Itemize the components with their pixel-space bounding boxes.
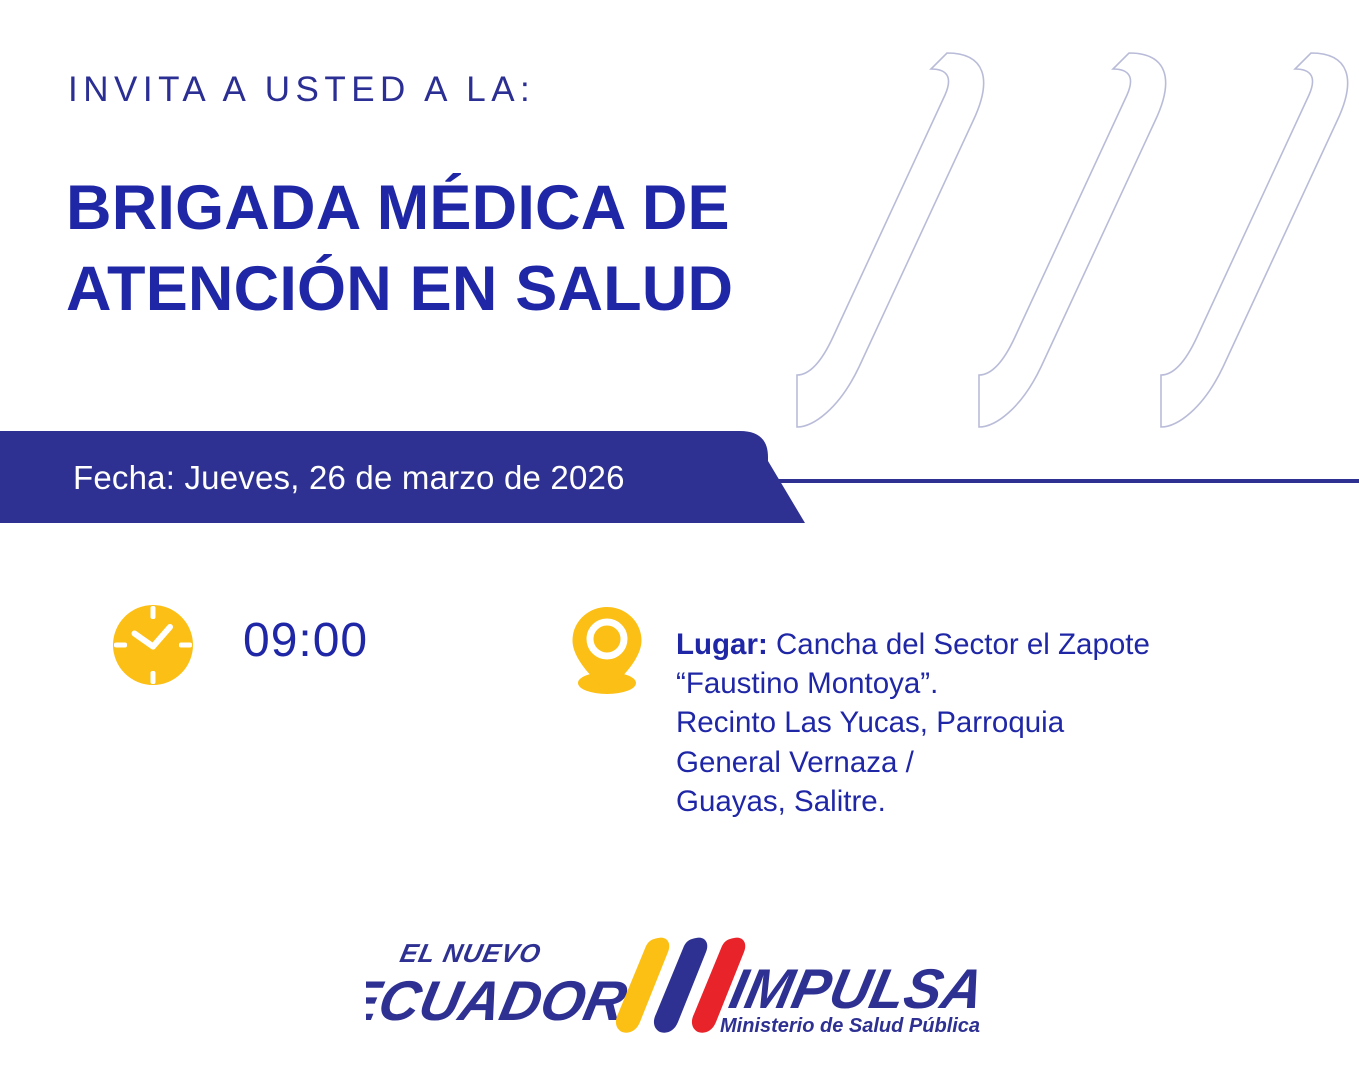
poster-canvas: INVITA A USTED A LA: BRIGADA MÉDICA DE A… bbox=[0, 0, 1359, 1079]
event-time: 09:00 bbox=[243, 613, 368, 668]
logo-tagline: EL NUEVO bbox=[398, 938, 545, 968]
location-venue: Cancha del Sector el Zapote bbox=[768, 628, 1150, 661]
logo-word-impulsa: IMPULSA bbox=[724, 958, 986, 1020]
triple-slash-outline-watermark bbox=[795, 45, 1355, 440]
location-label: Lugar: bbox=[676, 628, 768, 661]
logo-ministry-label: Ministerio de Salud Pública bbox=[720, 1015, 980, 1037]
location-line-2: “Faustino Montoya”. bbox=[676, 664, 1150, 703]
location-line-5: Guayas, Salitre. bbox=[676, 782, 1150, 821]
location-line-4: General Vernaza / bbox=[676, 743, 1150, 782]
footer-logo: EL NUEVO ECUADOR IMPULSA Ministerio de S… bbox=[366, 928, 986, 1040]
location-line-3: Recinto Las Yucas, Parroquia bbox=[676, 703, 1150, 742]
page-title-line-2: ATENCIÓN EN SALUD bbox=[66, 249, 733, 330]
location-line-1: Lugar: Cancha del Sector el Zapote bbox=[676, 625, 1150, 664]
date-banner-rule bbox=[760, 479, 1359, 483]
clock-icon bbox=[110, 602, 196, 688]
location-pin-icon bbox=[566, 605, 648, 695]
page-title-line-1: BRIGADA MÉDICA DE bbox=[66, 168, 733, 249]
invitation-eyebrow: INVITA A USTED A LA: bbox=[68, 70, 535, 110]
date-label: Fecha: Jueves, 26 de marzo de 2026 bbox=[73, 459, 625, 497]
logo-word-ecuador: ECUADOR bbox=[366, 970, 632, 1032]
page-title: BRIGADA MÉDICA DE ATENCIÓN EN SALUD bbox=[66, 168, 733, 329]
event-location: Lugar: Cancha del Sector el Zapote “Faus… bbox=[676, 625, 1150, 821]
